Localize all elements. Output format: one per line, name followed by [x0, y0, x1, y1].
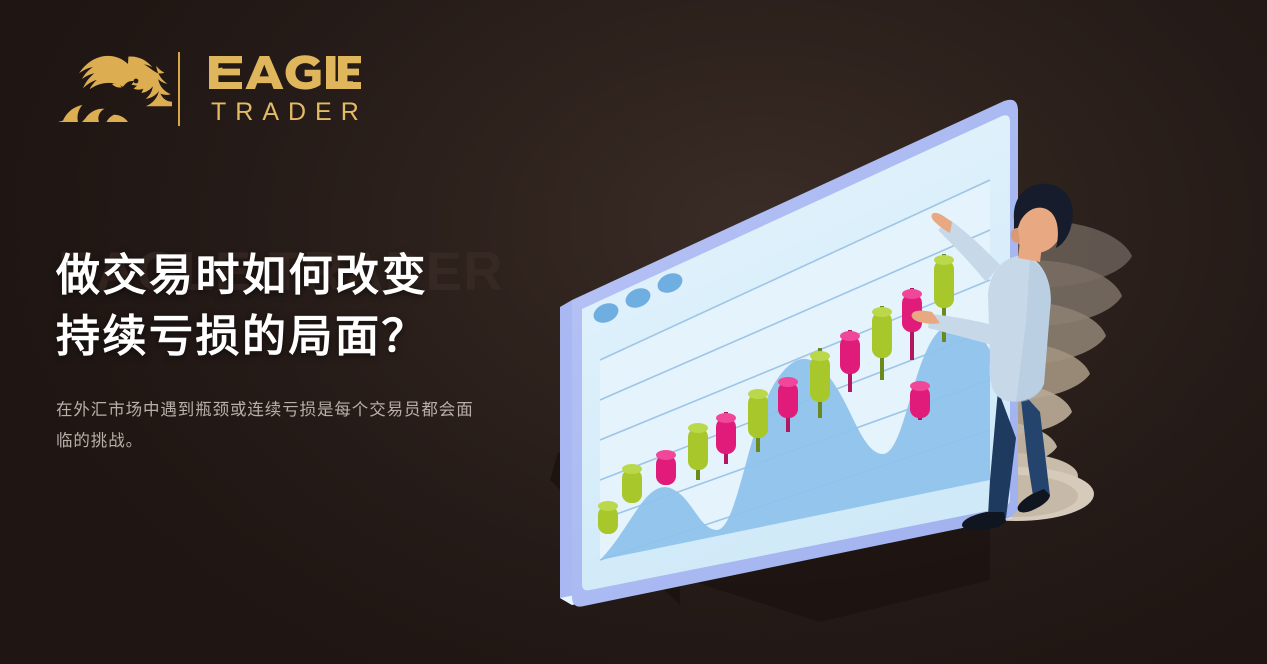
brand-logo[interactable]: TRADER: [56, 48, 368, 130]
hero-banner: TRADER EAGLE TRADER 做交易时如何改变 持续亏损的局面？ 在外…: [0, 0, 1267, 664]
headline-line-1: 做交易时如何改变: [56, 246, 526, 307]
brand-wordmark-eagle: [209, 53, 361, 93]
screen-side-edge: [560, 300, 572, 605]
brand-wordmark-trader: TRADER: [211, 100, 368, 125]
page-title: 做交易时如何改变 持续亏损的局面？: [56, 246, 526, 367]
hero-illustration: [520, 60, 1240, 660]
logo-divider: [178, 52, 180, 126]
hero-subtitle: 在外汇市场中遇到瓶颈或连续亏损是每个交易员都会面临的挑战。: [56, 395, 476, 456]
headline-line-2: 持续亏损的局面？: [56, 307, 526, 368]
eagle-head-icon: [56, 48, 172, 130]
hero-copy: EAGLE TRADER 做交易时如何改变 持续亏损的局面？ 在外汇市场中遇到瓶…: [56, 246, 526, 456]
